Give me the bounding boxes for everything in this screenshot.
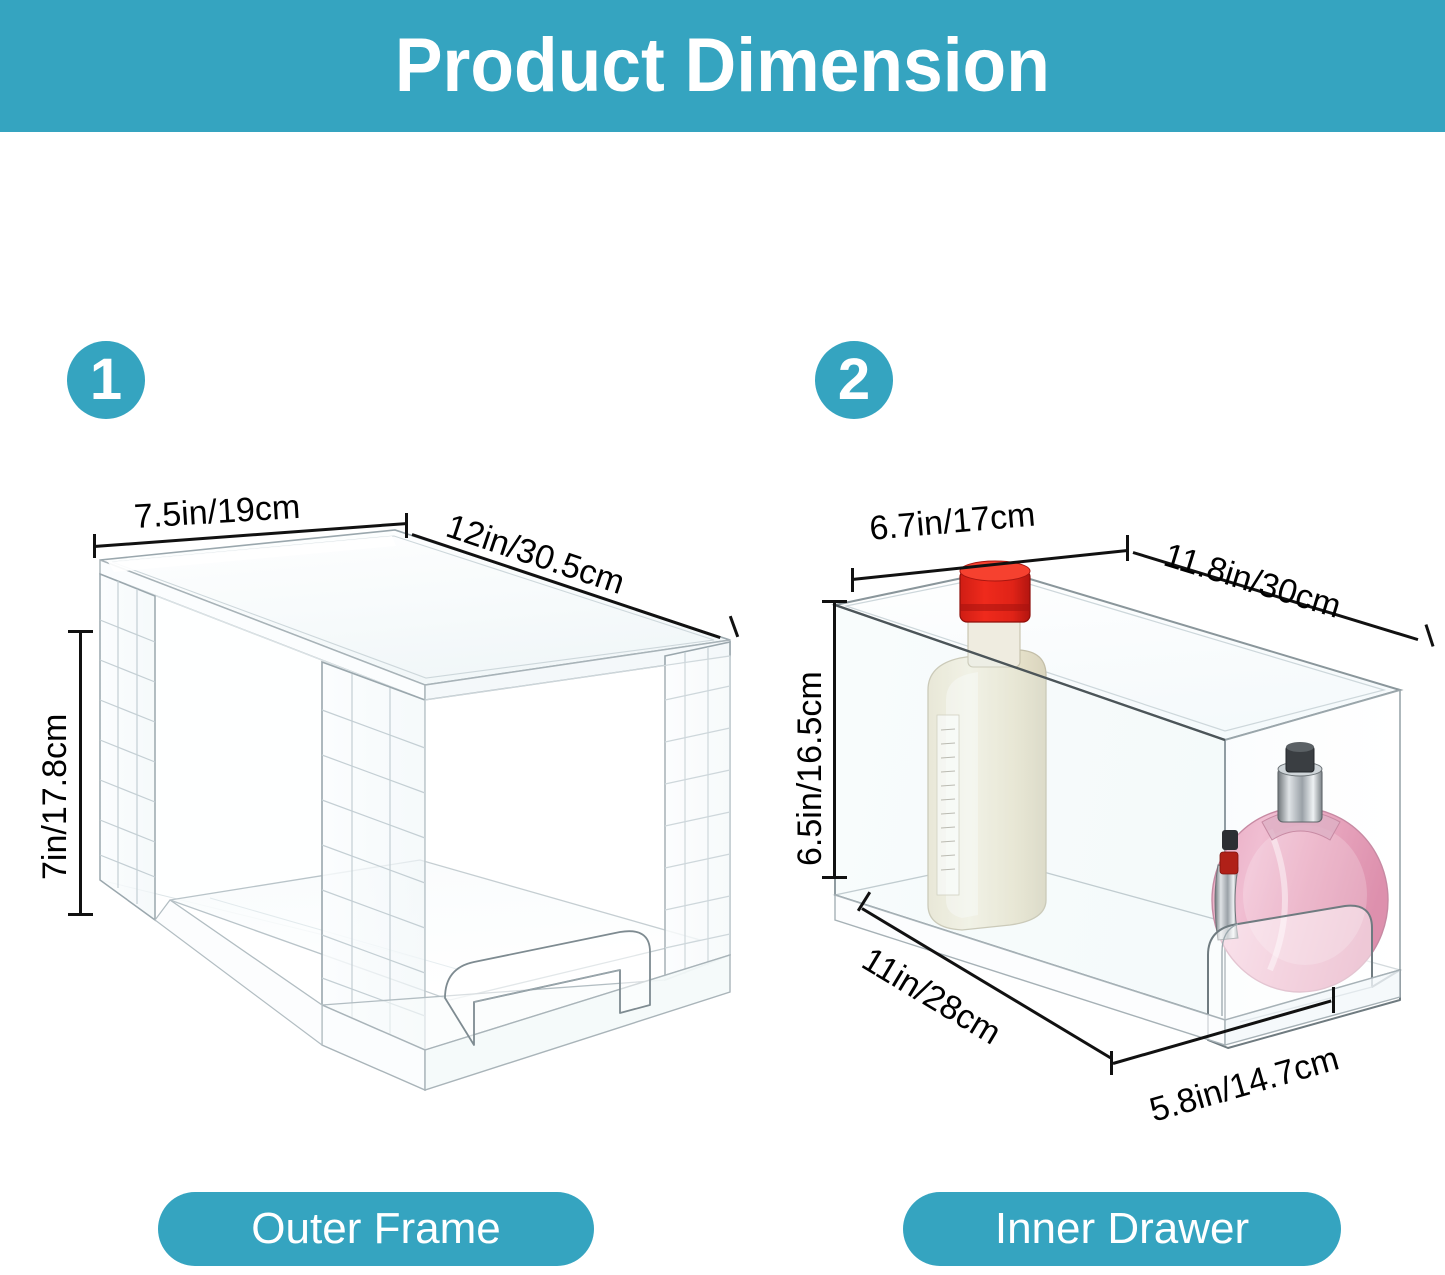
dimension-tick-right-b bbox=[1126, 535, 1129, 561]
inner-drawer-svg bbox=[800, 500, 1440, 1140]
frame-left-side-rail bbox=[100, 574, 155, 920]
dimension-tick-left-a bbox=[93, 534, 96, 558]
dimension-label-width-outer: 7.5in/19cm bbox=[133, 490, 301, 534]
badge-number-2: 2 bbox=[815, 341, 893, 419]
frame-front-left-post bbox=[322, 662, 425, 1050]
dimension-tick-left-e bbox=[68, 913, 93, 916]
badge-number-1: 1 bbox=[67, 341, 145, 419]
dimension-tick-right-a bbox=[851, 568, 854, 592]
dimension-tick-left-d bbox=[68, 630, 93, 633]
badge-2-label: 2 bbox=[838, 351, 870, 409]
caption-inner-drawer-label: Inner Drawer bbox=[995, 1207, 1249, 1251]
dimension-tick-left-b bbox=[405, 513, 408, 538]
dimension-rule-height-right bbox=[833, 601, 836, 879]
caption-pill-inner-drawer: Inner Drawer bbox=[903, 1192, 1341, 1266]
page-title: Product Dimension bbox=[395, 28, 1050, 104]
dimension-rule-height-left bbox=[79, 631, 82, 916]
dimension-label-height-outer: 7in/17.8cm bbox=[38, 714, 72, 880]
header-banner: Product Dimension bbox=[0, 0, 1445, 132]
dimension-tick-right-e bbox=[822, 876, 847, 879]
product-illustration-outer-frame bbox=[60, 500, 760, 1140]
dimension-tick-right-h bbox=[1332, 987, 1335, 1013]
dimension-tick-right-g bbox=[1110, 1051, 1113, 1075]
caption-outer-frame-label: Outer Frame bbox=[251, 1207, 500, 1251]
dimension-label-height-inner: 6.5in/16.5cm bbox=[793, 671, 827, 866]
dimension-tick-right-d bbox=[822, 600, 847, 603]
product-illustration-inner-drawer bbox=[800, 500, 1440, 1140]
caption-pill-outer-frame: Outer Frame bbox=[158, 1192, 594, 1266]
badge-1-label: 1 bbox=[90, 351, 122, 409]
outer-frame-svg bbox=[60, 500, 760, 1140]
